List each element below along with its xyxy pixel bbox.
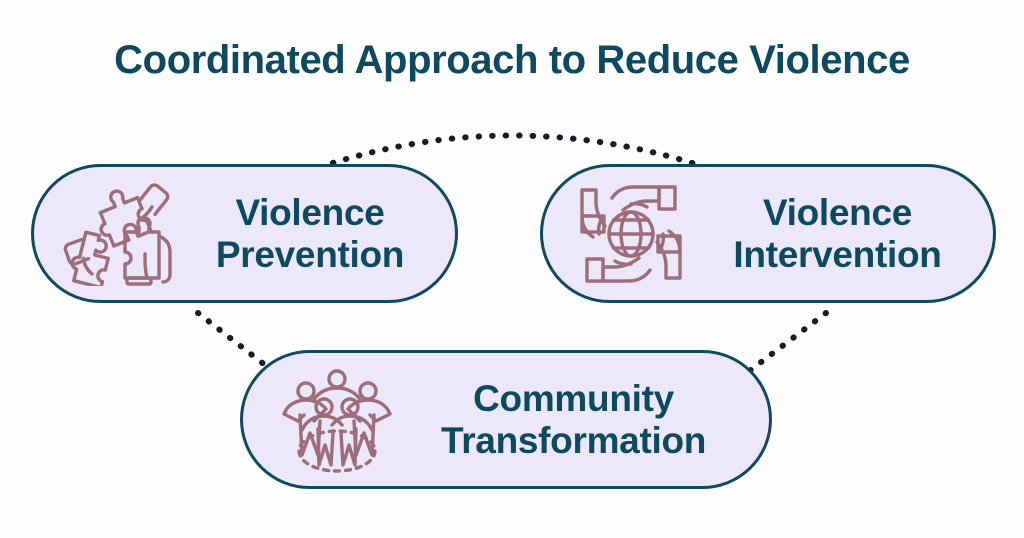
- label-line-1: Violence: [763, 192, 912, 233]
- node-violence-intervention[interactable]: Violence Intervention: [540, 164, 996, 303]
- node-community-transformation[interactable]: Community Transformation: [240, 350, 772, 489]
- page-title: Coordinated Approach to Reduce Violence: [0, 38, 1024, 83]
- label-line-2: Transformation: [404, 420, 743, 461]
- connector-intervention-to-community: [748, 313, 826, 372]
- hands-puzzle-pieces-icon: [52, 182, 187, 286]
- diagram-canvas: Coordinated Approach to Reduce Violence: [0, 0, 1024, 538]
- connector-prevention-to-intervention: [320, 136, 705, 168]
- node-violence-prevention[interactable]: Violence Prevention: [31, 164, 458, 303]
- connector-prevention-to-community: [198, 313, 274, 372]
- node-label-community-transformation: Community Transformation: [404, 378, 769, 461]
- node-label-violence-intervention: Violence Intervention: [698, 192, 993, 275]
- label-line-2: Intervention: [698, 234, 977, 275]
- node-label-violence-prevention: Violence Prevention: [187, 192, 455, 275]
- label-line-2: Prevention: [187, 234, 433, 275]
- label-line-1: Community: [473, 378, 674, 419]
- hands-around-globe-icon: [563, 180, 698, 288]
- group-of-people-icon: [269, 365, 404, 475]
- label-line-1: Violence: [235, 192, 384, 233]
